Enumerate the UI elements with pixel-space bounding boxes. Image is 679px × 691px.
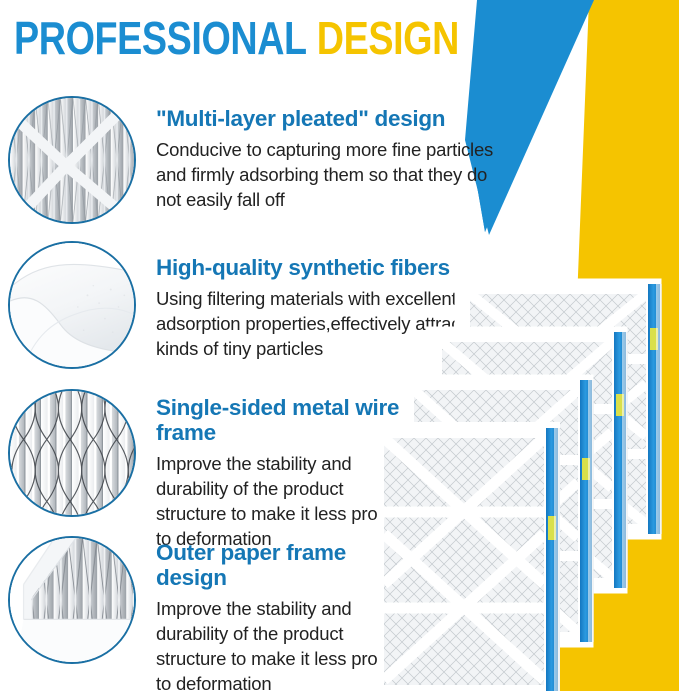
page-title-part2: DESIGN xyxy=(317,12,459,64)
feature-body: Improve the stability and durability of … xyxy=(156,596,406,691)
metal-wire-mesh-icon xyxy=(8,389,136,517)
feature-body: Improve the stability and durability of … xyxy=(156,451,406,551)
feature-body: Conducive to capturing more fine particl… xyxy=(156,137,506,212)
feature-heading: Single-sided metal wire frame xyxy=(156,395,406,445)
feature-text: Outer paper frame design Improve the sta… xyxy=(156,540,406,691)
yellow-wedge-shape xyxy=(531,0,679,691)
filter-panel-2 xyxy=(432,332,628,588)
paper-frame-corner-icon xyxy=(8,536,136,664)
feature-heading: High-quality synthetic fibers xyxy=(156,255,506,280)
feature-text: Single-sided metal wire frame Improve th… xyxy=(156,395,406,551)
infographic-page: PROFESSIONAL DESIGN xyxy=(0,0,679,691)
feature-heading: "Multi-layer pleated" design xyxy=(156,106,506,131)
feature-text: High-quality synthetic fibers Using filt… xyxy=(156,255,506,361)
feature-text: "Multi-layer pleated" design Conducive t… xyxy=(156,106,506,212)
filter-panel-3 xyxy=(404,380,594,642)
page-title: PROFESSIONAL DESIGN xyxy=(14,12,459,64)
page-title-part1: PROFESSIONAL xyxy=(14,12,307,64)
feature-body: Using filtering materials with excellent… xyxy=(156,286,506,361)
pleated-filter-closeup-icon xyxy=(8,96,136,224)
synthetic-fiber-fabric-icon xyxy=(8,241,136,369)
feature-heading: Outer paper frame design xyxy=(156,540,406,590)
